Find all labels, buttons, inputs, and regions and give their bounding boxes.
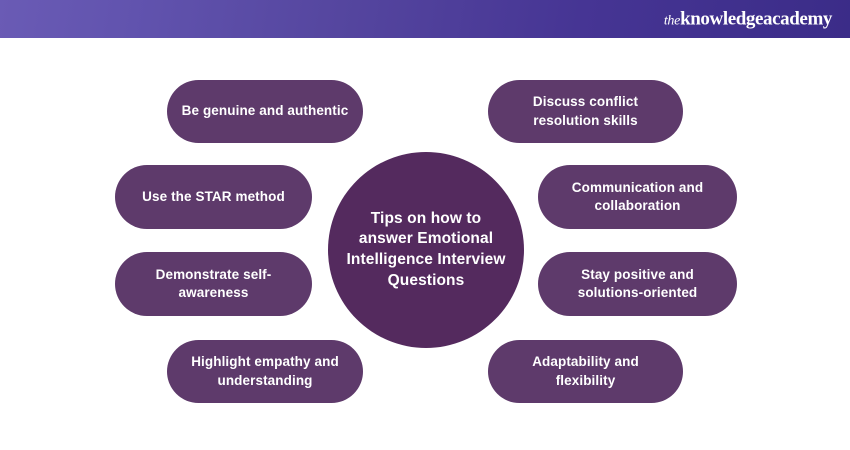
node-label: Use the STAR method [142, 188, 285, 206]
header-bar: theknowledgeacademy [0, 0, 850, 38]
diagram-node-stay-positive-and-solutions-oriented: Stay positive and solutions-oriented [538, 252, 737, 316]
node-label: Adaptability and flexibility [502, 353, 669, 389]
diagram-center-hub: Tips on how to answer Emotional Intellig… [328, 152, 524, 348]
diagram-node-use-the-star-method: Use the STAR method [115, 165, 312, 229]
brand-logo-name: knowledgeacademy [680, 9, 832, 30]
node-label: Communication and collaboration [552, 179, 723, 215]
node-label: Demonstrate self-awareness [129, 266, 298, 302]
node-label: Highlight empathy and understanding [181, 353, 349, 389]
node-label: Be genuine and authentic [182, 102, 349, 120]
node-label: Discuss conflict resolution skills [502, 93, 669, 129]
diagram-center-label: Tips on how to answer Emotional Intellig… [344, 209, 508, 291]
diagram-node-communication-and-collaboration: Communication and collaboration [538, 165, 737, 229]
diagram-node-adaptability-and-flexibility: Adaptability and flexibility [488, 340, 683, 403]
brand-logo-prefix: the [664, 14, 680, 29]
hub-and-spoke-diagram: Tips on how to answer Emotional Intellig… [0, 38, 850, 450]
diagram-node-be-genuine-and-authentic: Be genuine and authentic [167, 80, 363, 143]
node-label: Stay positive and solutions-oriented [552, 266, 723, 302]
brand-logo: theknowledgeacademy [664, 10, 832, 29]
diagram-node-discuss-conflict-resolution-skills: Discuss conflict resolution skills [488, 80, 683, 143]
diagram-node-highlight-empathy-and-understanding: Highlight empathy and understanding [167, 340, 363, 403]
infographic-page: theknowledgeacademy Tips on how to answe… [0, 0, 850, 450]
diagram-node-demonstrate-self-awareness: Demonstrate self-awareness [115, 252, 312, 316]
